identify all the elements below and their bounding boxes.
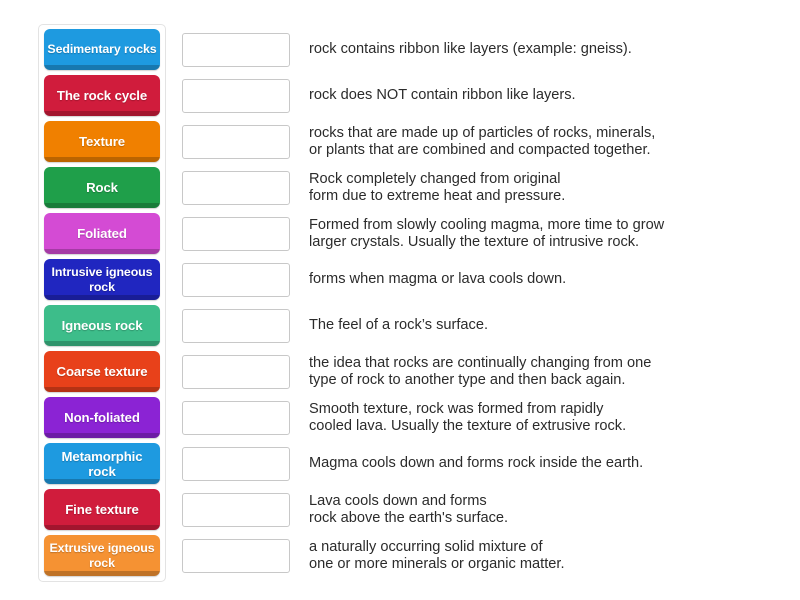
- draggable-answer-tray: Sedimentary rocksThe rock cycleTextureRo…: [38, 24, 166, 582]
- draggable-tile-label: Metamorphic rock: [47, 449, 157, 479]
- prompt-row: forms when magma or lava cools down.: [182, 258, 782, 302]
- draggable-tile[interactable]: Metamorphic rock: [44, 443, 160, 484]
- prompt-row: Lava cools down and forms rock above the…: [182, 488, 782, 532]
- answer-dropzone[interactable]: [182, 401, 290, 435]
- answer-dropzone[interactable]: [182, 263, 290, 297]
- prompt-text: rocks that are made up of particles of r…: [309, 125, 655, 160]
- prompt-text: rock does NOT contain ribbon like layers…: [309, 87, 576, 105]
- prompt-row: Magma cools down and forms rock inside t…: [182, 442, 782, 486]
- draggable-tile-label: The rock cycle: [57, 88, 147, 103]
- draggable-tile-label: Fine texture: [65, 502, 139, 517]
- answer-dropzone[interactable]: [182, 171, 290, 205]
- match-up-activity: Sedimentary rocksThe rock cycleTextureRo…: [0, 0, 800, 600]
- answer-dropzone[interactable]: [182, 79, 290, 113]
- prompt-text: forms when magma or lava cools down.: [309, 271, 566, 289]
- prompt-row: Formed from slowly cooling magma, more t…: [182, 212, 782, 256]
- answer-dropzone[interactable]: [182, 125, 290, 159]
- prompt-row: Rock completely changed from original fo…: [182, 166, 782, 210]
- draggable-tile-label: Igneous rock: [62, 318, 143, 333]
- draggable-tile-label: Extrusive igneous rock: [47, 541, 157, 571]
- draggable-tile-label: Foliated: [77, 226, 127, 241]
- draggable-tile[interactable]: The rock cycle: [44, 75, 160, 116]
- draggable-tile[interactable]: Non-foliated: [44, 397, 160, 438]
- prompt-row: the idea that rocks are continually chan…: [182, 350, 782, 394]
- draggable-tile[interactable]: Foliated: [44, 213, 160, 254]
- draggable-tile[interactable]: Sedimentary rocks: [44, 29, 160, 70]
- prompt-text: the idea that rocks are continually chan…: [309, 355, 651, 390]
- draggable-tile-label: Rock: [86, 180, 118, 195]
- prompt-text: Rock completely changed from original fo…: [309, 171, 565, 206]
- draggable-tile[interactable]: Igneous rock: [44, 305, 160, 346]
- prompt-text: a naturally occurring solid mixture of o…: [309, 539, 565, 574]
- prompt-row: Smooth texture, rock was formed from rap…: [182, 396, 782, 440]
- draggable-tile[interactable]: Coarse texture: [44, 351, 160, 392]
- prompt-text: Lava cools down and forms rock above the…: [309, 493, 508, 528]
- answer-dropzone[interactable]: [182, 217, 290, 251]
- answer-dropzone[interactable]: [182, 447, 290, 481]
- prompt-row: The feel of a rock’s surface.: [182, 304, 782, 348]
- prompt-row-list: rock contains ribbon like layers (exampl…: [182, 24, 782, 578]
- prompt-text: Smooth texture, rock was formed from rap…: [309, 401, 626, 436]
- draggable-tile[interactable]: Rock: [44, 167, 160, 208]
- answer-dropzone[interactable]: [182, 539, 290, 573]
- prompt-row: rock contains ribbon like layers (exampl…: [182, 28, 782, 72]
- prompt-row: rock does NOT contain ribbon like layers…: [182, 74, 782, 118]
- prompt-text: rock contains ribbon like layers (exampl…: [309, 41, 632, 59]
- draggable-tile-label: Intrusive igneous rock: [47, 265, 157, 295]
- draggable-tile-label: Texture: [79, 134, 125, 149]
- answer-dropzone[interactable]: [182, 355, 290, 389]
- answer-dropzone[interactable]: [182, 493, 290, 527]
- prompt-text: Formed from slowly cooling magma, more t…: [309, 217, 664, 252]
- prompt-row: a naturally occurring solid mixture of o…: [182, 534, 782, 578]
- prompt-text: The feel of a rock’s surface.: [309, 317, 488, 335]
- draggable-tile-label: Non-foliated: [64, 410, 140, 425]
- draggable-tile[interactable]: Fine texture: [44, 489, 160, 530]
- draggable-tile[interactable]: Intrusive igneous rock: [44, 259, 160, 300]
- prompt-text: Magma cools down and forms rock inside t…: [309, 455, 643, 473]
- draggable-tile-label: Sedimentary rocks: [47, 42, 156, 57]
- draggable-tile[interactable]: Extrusive igneous rock: [44, 535, 160, 576]
- prompt-row: rocks that are made up of particles of r…: [182, 120, 782, 164]
- draggable-tile[interactable]: Texture: [44, 121, 160, 162]
- answer-dropzone[interactable]: [182, 309, 290, 343]
- draggable-tile-label: Coarse texture: [57, 364, 148, 379]
- answer-dropzone[interactable]: [182, 33, 290, 67]
